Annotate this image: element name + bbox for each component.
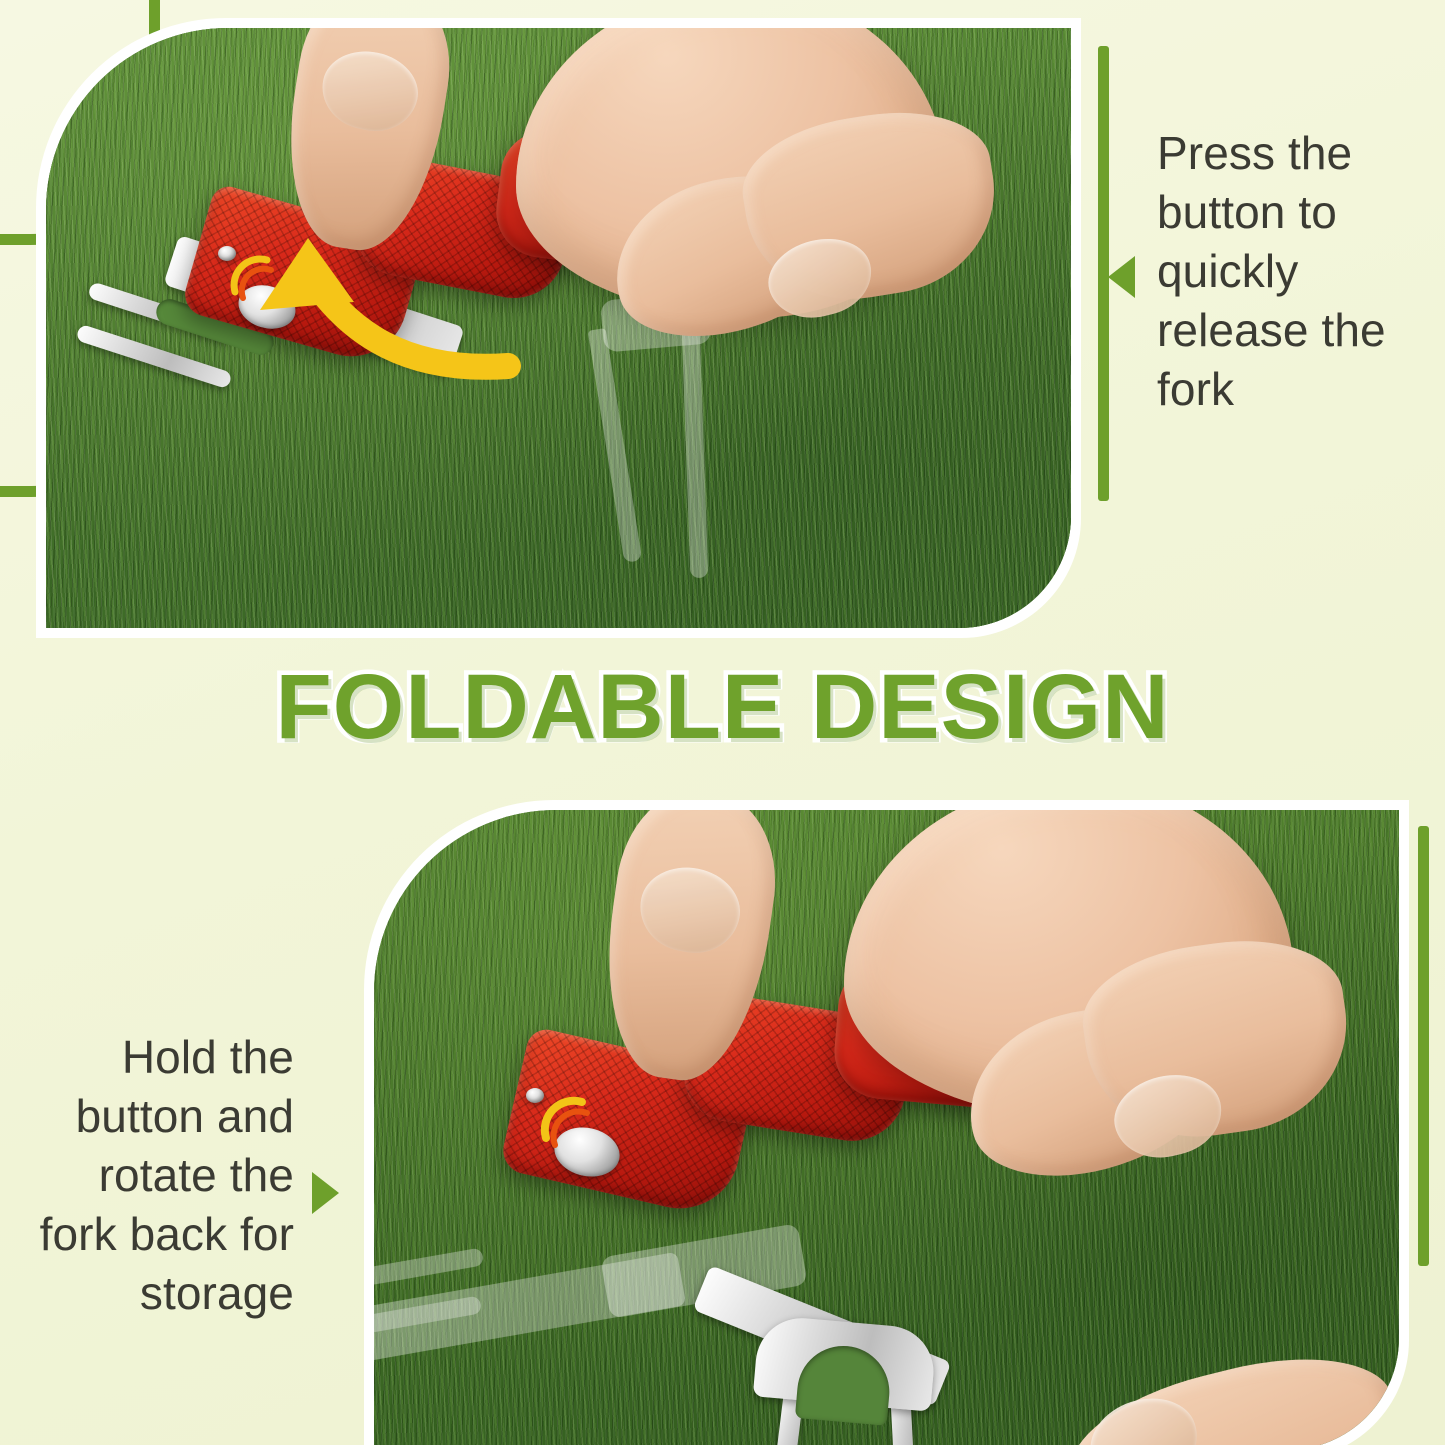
- caption-hold-rotate: Hold the button and rotate the fork back…: [18, 1028, 294, 1322]
- ghost-fork-prong-right: [682, 328, 709, 578]
- accent-line-bottom-vertical: [1418, 826, 1429, 1266]
- photo-frame-top: [46, 28, 1071, 628]
- caption-marker-triangle-left-icon: [1108, 256, 1135, 298]
- yellow-ring-decal-bottom: [530, 1086, 620, 1176]
- caption-marker-triangle-right-icon: [312, 1172, 339, 1214]
- press-button-release-fork-photo: [36, 18, 1081, 638]
- rotation-arrow-right: [564, 1390, 1024, 1445]
- page-title: FOLDABLE DESIGN: [0, 655, 1445, 760]
- rotate-fork-storage-photo: [364, 800, 1409, 1445]
- caption-press-button: Press the button to quickly release the …: [1157, 124, 1423, 418]
- photo-frame-bottom: [374, 810, 1399, 1445]
- infographic-root: Press the button to quickly release the …: [0, 0, 1445, 1445]
- product-scene-bottom: [374, 810, 1399, 1445]
- rotation-arrow-up: [196, 238, 616, 538]
- product-scene-top: [46, 28, 1071, 628]
